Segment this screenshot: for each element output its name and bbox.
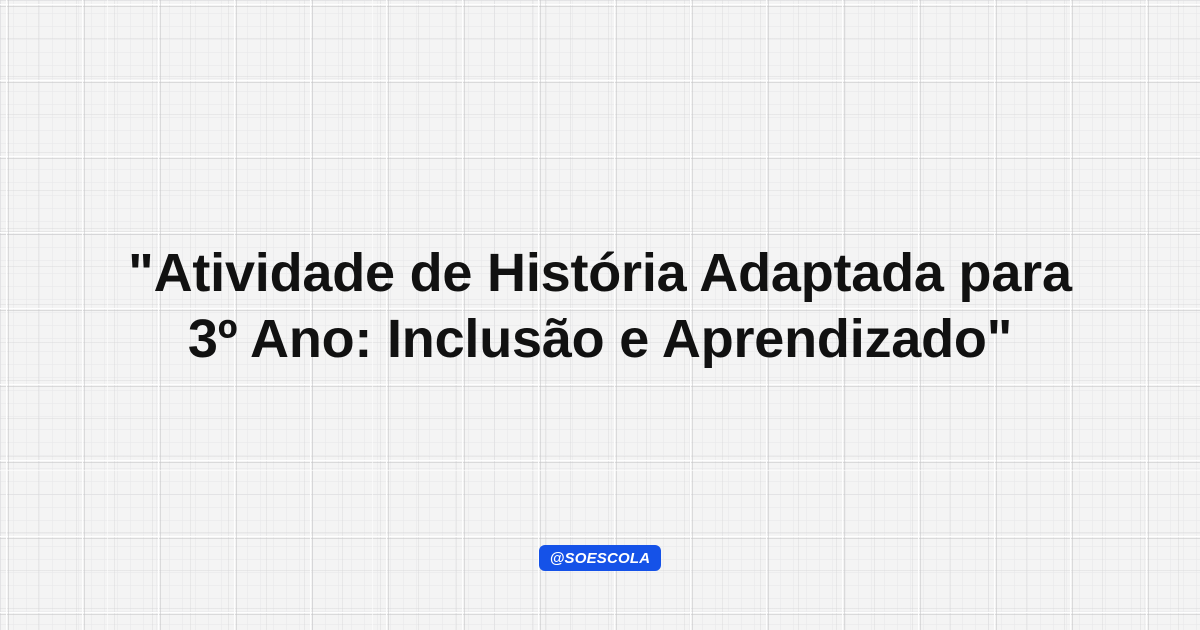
handle-badge-container: @SOESCOLA [0,545,1200,571]
page-title-line-2: 3º Ano: Inclusão e Aprendizado" [24,306,1176,372]
page-title-line-1: "Atividade de História Adaptada para [24,240,1176,306]
soescola-handle-badge[interactable]: @SOESCOLA [539,545,662,571]
poster-canvas: "Atividade de História Adaptada para 3º … [0,0,1200,630]
page-title: "Atividade de História Adaptada para 3º … [0,240,1200,372]
